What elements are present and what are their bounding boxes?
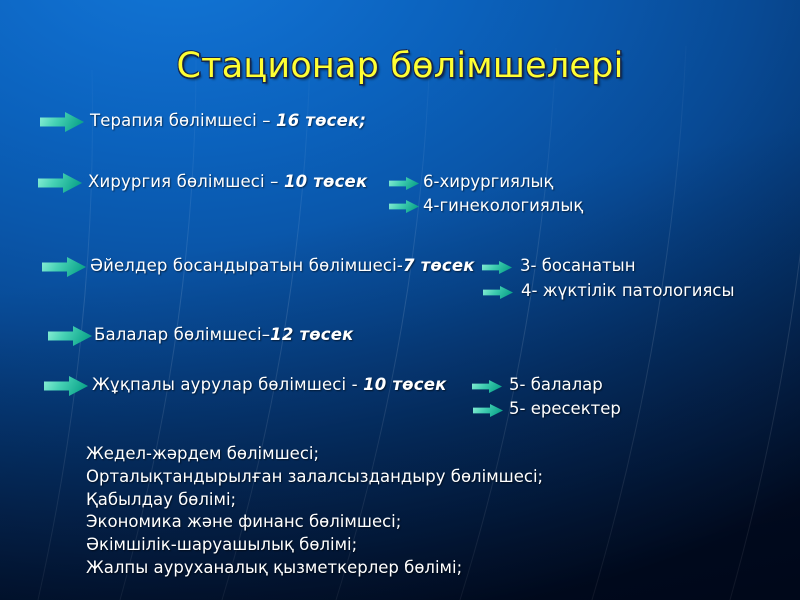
department-name-2: Хирургия бөлімшесі bbox=[88, 172, 265, 191]
breakdown-item-5-1: 5- балалар bbox=[509, 375, 603, 394]
right-block-arrow-small-icon-5a bbox=[472, 380, 502, 393]
slide-title: Стационар бөлімшелері bbox=[0, 46, 800, 86]
right-block-arrow-small-icon-2a bbox=[389, 177, 419, 190]
department-beds-4: 12 төсек bbox=[270, 325, 353, 344]
breakdown-item-5-2: 5- ересектер bbox=[509, 399, 621, 418]
department-beds-5: 10 төсек bbox=[363, 375, 446, 394]
right-block-arrow-icon-4 bbox=[48, 326, 92, 346]
department-name-3: Әйелдер босандыратын бөлімшесі- bbox=[90, 256, 403, 275]
right-block-arrow-small-icon-2b bbox=[389, 200, 419, 213]
right-block-arrow-icon-5 bbox=[44, 376, 88, 396]
department-line-5: Жұқпалы аурулар бөлімшесі - 10 төсек bbox=[92, 375, 446, 394]
department-separator-1: – bbox=[257, 111, 276, 130]
breakdown-item-3-2: 4- жүктілік патологиясы bbox=[521, 281, 735, 300]
list-item: Әкімшілік-шаруашылық бөлімі; bbox=[86, 534, 543, 557]
department-separator-2: – bbox=[265, 172, 284, 191]
right-block-arrow-small-icon-5b bbox=[473, 404, 503, 417]
breakdown-item-2-2: 4-гинекологиялық bbox=[423, 196, 583, 215]
right-block-arrow-icon-2 bbox=[38, 173, 82, 193]
department-line-4: Балалар бөлімшесі–12 төсек bbox=[94, 325, 354, 344]
breakdown-item-3-1: 3- босанатын bbox=[520, 256, 635, 275]
right-block-arrow-small-icon-3b bbox=[483, 286, 513, 299]
department-name-5: Жұқпалы аурулар бөлімшесі - bbox=[92, 375, 363, 394]
list-item: Экономика және финанс бөлімшесі; bbox=[86, 511, 543, 534]
department-beds-2: 10 төсек bbox=[284, 172, 367, 191]
department-beds-1: 16 төсек; bbox=[276, 111, 366, 130]
department-line-2: Хирургия бөлімшесі – 10 төсек bbox=[88, 172, 367, 191]
list-item: Орталықтандырылған залалсыздандыру бөлім… bbox=[86, 466, 543, 489]
slide-canvas: Стационар бөлімшелері Терапия бөлімшесі … bbox=[0, 0, 800, 600]
department-name-4: Балалар бөлімшесі– bbox=[94, 325, 270, 344]
right-block-arrow-small-icon-3a bbox=[482, 261, 512, 274]
list-item: Жедел-жәрдем бөлімшесі; bbox=[86, 443, 543, 466]
list-item: Жалпы ауруханалық қызметкерлер бөлімі; bbox=[86, 557, 543, 580]
department-line-3: Әйелдер босандыратын бөлімшесі-7 төсек bbox=[90, 256, 475, 275]
department-beds-3: 7 төсек bbox=[403, 256, 475, 275]
department-line-1: Терапия бөлімшесі – 16 төсек; bbox=[90, 111, 366, 130]
department-name-1: Терапия бөлімшесі bbox=[90, 111, 257, 130]
breakdown-item-2-1: 6-хирургиялық bbox=[423, 172, 554, 191]
right-block-arrow-icon-3 bbox=[42, 257, 86, 277]
other-units-list: Жедел-жәрдем бөлімшесі; Орталықтандырылғ… bbox=[86, 443, 543, 580]
right-block-arrow-icon-1 bbox=[40, 112, 84, 132]
list-item: Қабылдау бөлімі; bbox=[86, 489, 543, 512]
